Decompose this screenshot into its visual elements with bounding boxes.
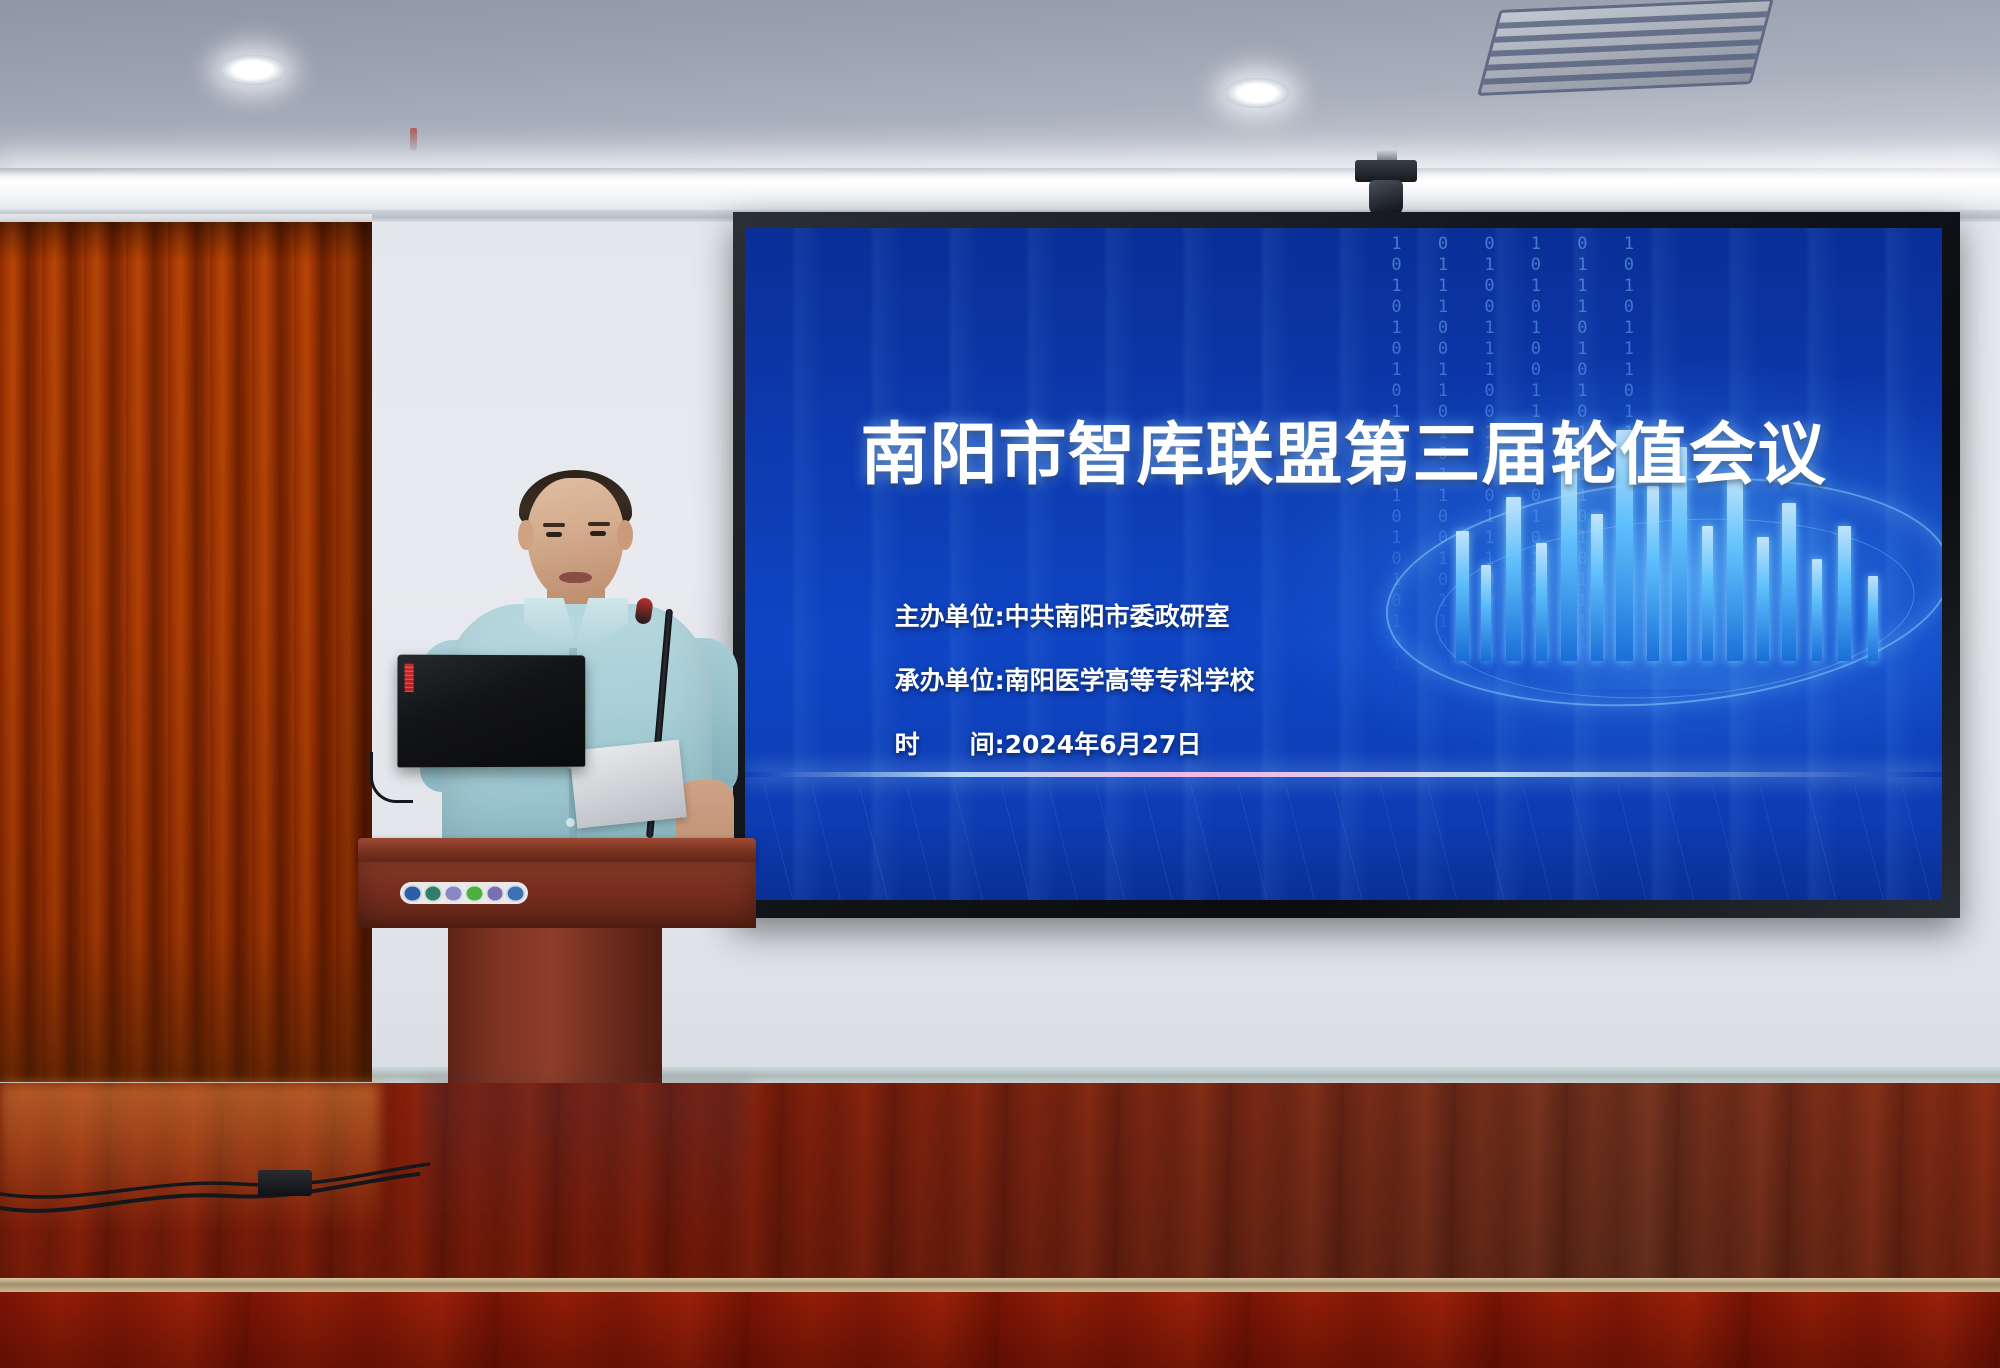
stage-edge-trim bbox=[0, 1278, 2000, 1292]
podium-badge bbox=[486, 885, 505, 902]
shirt-button bbox=[566, 818, 575, 827]
hvac-vent-icon bbox=[1477, 0, 1774, 96]
ceiling-downlight bbox=[1225, 78, 1289, 108]
sprinkler-head-icon bbox=[410, 128, 417, 150]
podium-badge bbox=[403, 885, 422, 902]
speaker-eye bbox=[590, 531, 606, 536]
podium-badge-row bbox=[400, 882, 528, 904]
podium-badge bbox=[465, 885, 484, 902]
podium-badge bbox=[424, 885, 443, 902]
laptop-device[interactable] bbox=[397, 655, 585, 768]
horizon-light-streak bbox=[745, 772, 1942, 777]
speaker-ear bbox=[617, 520, 633, 550]
ceiling-downlight bbox=[220, 55, 286, 85]
podium-top bbox=[358, 838, 756, 864]
ceiling-camera-icon bbox=[1355, 160, 1417, 182]
speaker-eyebrow bbox=[588, 522, 610, 526]
stage-curtain bbox=[0, 222, 372, 1082]
speech-papers bbox=[569, 739, 687, 828]
slide-date-line: 时 间:2024年6月27日 bbox=[895, 719, 1202, 771]
speaker-eye bbox=[546, 532, 562, 537]
stage-front-panel bbox=[0, 1292, 2000, 1368]
cove-light-strip bbox=[0, 168, 2000, 198]
speaker-mouth bbox=[559, 572, 592, 583]
slide-organizer-line: 承办单位:南阳医学高等专科学校 bbox=[895, 655, 1255, 707]
presentation-screen: 1 0 0 1 0 1 0 1 1 0 1 0 1 1 0 1 1 1 0 1 … bbox=[745, 228, 1942, 900]
speaker-ear bbox=[518, 520, 534, 550]
photo-scene: 1 0 0 1 0 1 0 1 1 0 1 0 1 1 0 1 1 1 0 1 … bbox=[0, 0, 2000, 1368]
slide-title: 南阳市智库联盟第三届轮值会议 bbox=[745, 399, 1942, 498]
presentation-screen-bezel: 1 0 0 1 0 1 0 1 1 0 1 0 1 1 0 1 1 1 0 1 … bbox=[733, 212, 1960, 918]
podium-badge bbox=[506, 885, 525, 902]
podium-badge bbox=[444, 885, 463, 902]
slide-host-line: 主办单位:中共南阳市委政研室 bbox=[895, 591, 1230, 643]
perspective-grid bbox=[745, 786, 1942, 900]
lenovo-logo-icon bbox=[405, 664, 414, 692]
power-adapter-brick bbox=[258, 1170, 312, 1196]
speaker-eyebrow bbox=[543, 523, 565, 527]
